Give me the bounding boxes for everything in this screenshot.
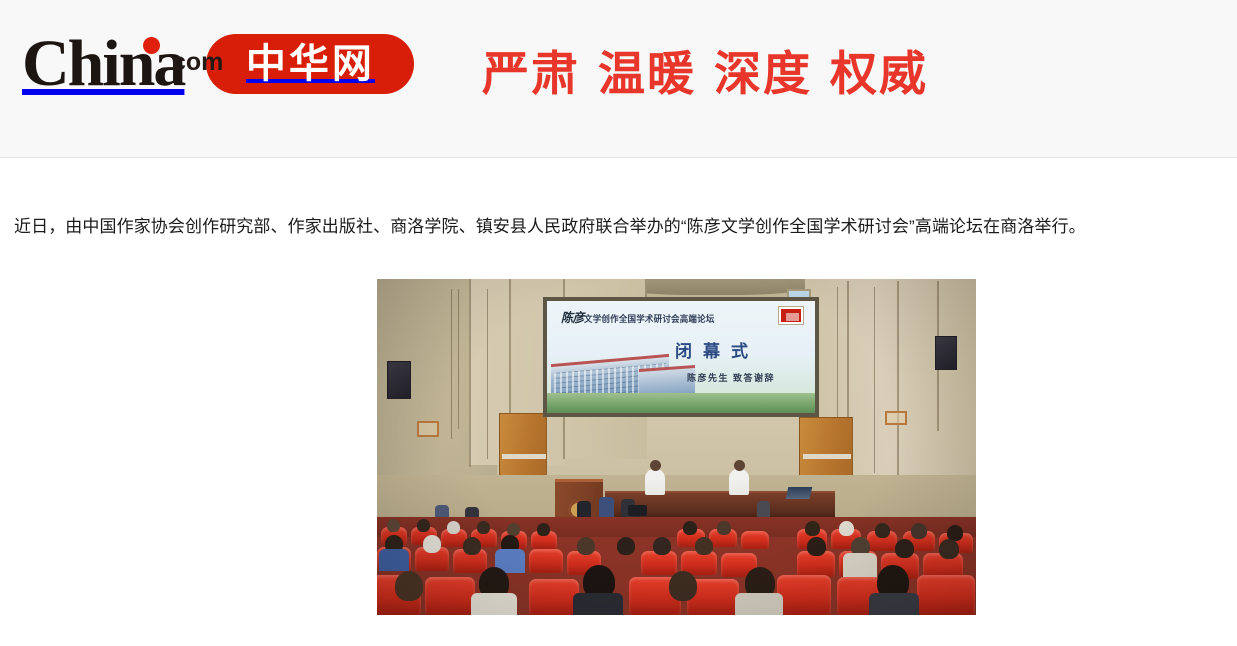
logo-red-dot-icon [143,37,160,54]
photo-canvas: 陈彦文学创作全国学术研讨会高端论坛 闭幕式 陈彦先生 致答谢辞 [377,279,976,615]
audience-head [875,523,890,538]
audience-head [839,521,854,536]
site-header: China com 中华网 严肃温暖深度权威 [0,0,1237,158]
audience-seat [917,575,975,615]
slogan-word-2: 温暖 [598,47,696,100]
site-slogan: 严肃温暖深度权威 [482,46,928,102]
article-lede-paragraph: 近日，由中国作家协会创作研究部、作家出版社、商洛学院、镇安县人民政府联合举办的“… [14,214,1214,240]
audience-torso [471,593,517,615]
audience-head [537,523,550,536]
wall-plaque [885,411,907,425]
audience-head [717,521,731,535]
site-logo-link[interactable]: China com 中华网 [22,28,414,100]
stage-speaker-1 [645,469,665,495]
wall-wire [487,289,488,459]
audience-head [939,539,959,559]
wall-wire [451,289,452,439]
article-body: 近日，由中国作家协会创作研究部、作家出版社、商洛学院、镇安县人民政府联合举办的“… [0,158,1237,646]
logo-badge[interactable]: 中华网 [206,34,414,94]
wall-seam [469,279,471,467]
screen-image-lawn [547,393,815,413]
projector-screen: 陈彦文学创作全国学术研讨会高端论坛 闭幕式 陈彦先生 致答谢辞 [543,297,819,417]
audience-head [895,539,914,558]
audience-head [669,571,697,601]
stage-laptop [786,487,813,499]
audience-head [423,535,441,553]
screen-title-rest: 文学创作全国学术研讨会高端论坛 [584,314,715,325]
audience-head [417,519,430,532]
audience-head [807,537,826,556]
hall-door-right [799,417,853,483]
wall-plaque [417,421,439,437]
audience-head [805,521,820,536]
audience-torso [379,549,409,571]
audience-head [447,521,460,534]
audience-seat [529,549,563,573]
door-push-bar [803,454,851,459]
projector-screen-content: 陈彦文学创作全国学术研讨会高端论坛 闭幕式 陈彦先生 致答谢辞 [547,301,815,413]
audience-seat [777,575,831,615]
screen-title-calligraphy: 陈彦 [561,311,584,326]
logo-wordmark-text: China [22,27,184,100]
audience-seat [741,531,769,549]
wall-wire [874,287,875,473]
slogan-word-3: 深度 [714,47,812,100]
audience-torso [573,593,623,615]
audience-head [653,537,671,555]
stage-speaker-2 [729,469,749,495]
audience-head [695,537,713,555]
audience-torso [869,593,919,615]
slogan-word-4: 权威 [830,47,928,100]
wall-seam [897,281,899,477]
audience-torso [735,593,783,615]
wall-speaker-left-icon [387,361,411,399]
article-photo: 陈彦文学创作全国学术研讨会高端论坛 闭幕式 陈彦先生 致答谢辞 [377,279,976,615]
audience-head [387,519,400,532]
door-push-bar [502,454,546,459]
wall-speaker-right-icon [935,336,957,370]
audience-head [911,523,927,539]
screen-title: 陈彦文学创作全国学术研讨会高端论坛 [561,309,715,327]
audience-torso [843,553,877,579]
audience-seat [529,579,579,615]
screen-headline: 闭幕式 [675,337,759,362]
logo-wordmark: China com [22,31,188,97]
slogan-word-1: 严肃 [482,47,580,100]
logo-badge-label: 中华网 [246,44,375,84]
audience-head [477,521,490,534]
logo-tld-text: com [172,29,223,95]
screen-emblem-icon [779,307,803,324]
audience-head [617,537,635,555]
audience-seat [425,577,475,615]
audience-head [463,537,481,555]
audience-head [395,571,423,601]
screen-subtitle: 陈彦先生 致答谢辞 [687,371,775,384]
audience-head [577,537,595,555]
wall-wire [458,289,459,429]
audience-head [683,521,697,535]
